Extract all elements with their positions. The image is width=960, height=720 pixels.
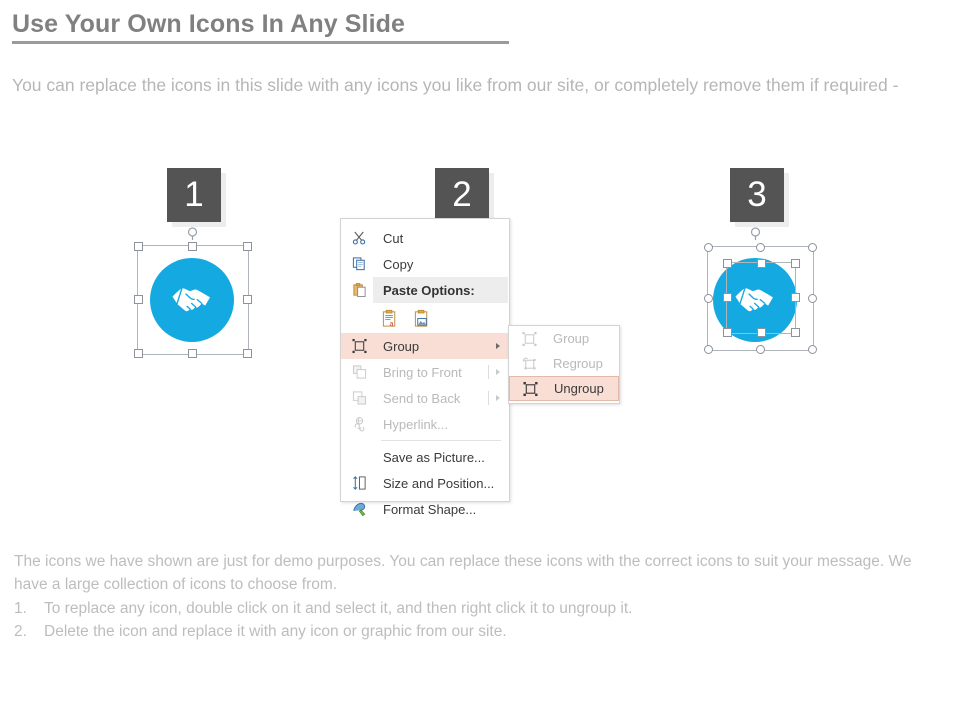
chevron-right-icon [496, 343, 500, 349]
outer-handle-se[interactable] [808, 345, 817, 354]
context-menu-item-send-to-back-label: Send to Back [383, 391, 460, 406]
context-menu-item-hyperlink[interactable]: Hyperlink... [341, 411, 509, 437]
footer-list-item-1-text: To replace any icon, double click on it … [44, 597, 632, 620]
slide-canvas: Use Your Own Icons In Any Slide You can … [0, 0, 960, 720]
chevron-right-icon [496, 395, 500, 401]
scissors-icon [351, 230, 368, 247]
inner-handle-e[interactable] [791, 293, 800, 302]
selection-handle-w[interactable] [134, 295, 143, 304]
paste-options-row[interactable]: a [341, 303, 509, 333]
hyperlink-icon [351, 416, 368, 433]
badge-1-label: 1 [167, 168, 221, 222]
badge-3-label: 3 [730, 168, 784, 222]
context-menu-divider [381, 440, 501, 441]
group-submenu[interactable]: Group Regroup [508, 325, 620, 404]
submenu-item-regroup-label: Regroup [553, 356, 603, 371]
context-menu-item-hyperlink-label: Hyperlink... [383, 417, 448, 432]
format-shape-icon [351, 501, 368, 518]
inner-handle-se[interactable] [791, 328, 800, 337]
outer-handle-sw[interactable] [704, 345, 713, 354]
paste-icon [351, 282, 368, 299]
context-menu-item-size-and-position[interactable]: Size and Position... [341, 470, 509, 496]
badge-2-label: 2 [435, 168, 489, 222]
selection-handle-nw[interactable] [134, 242, 143, 251]
outer-handle-nw[interactable] [704, 243, 713, 252]
context-menu-item-group[interactable]: Group [341, 333, 509, 359]
selection-handle-n[interactable] [188, 242, 197, 251]
context-menu-item-save-as-picture[interactable]: Save as Picture... [341, 444, 509, 470]
footer-text: The icons we have shown are just for dem… [14, 550, 946, 643]
context-menu-item-bring-to-front-label: Bring to Front [383, 365, 462, 380]
context-menu-item-cut-label: Cut [383, 231, 403, 246]
context-menu-item-cut[interactable]: Cut [341, 225, 509, 251]
svg-text:a: a [390, 320, 394, 328]
selection-box-3-inner [726, 262, 796, 334]
context-menu-paste-options-header: Paste Options: [341, 277, 509, 303]
selection-handle-ne[interactable] [243, 242, 252, 251]
inner-handle-nw[interactable] [723, 259, 732, 268]
selection-handle-sw[interactable] [134, 349, 143, 358]
footer-list-item-1-number: 1. [14, 597, 44, 620]
page-title-text: Use Your Own Icons In Any Slide [12, 10, 509, 39]
inner-handle-sw[interactable] [723, 328, 732, 337]
badge-3: 3 [730, 168, 784, 222]
inner-handle-n[interactable] [757, 259, 766, 268]
submenu-item-ungroup-label: Ungroup [554, 381, 604, 396]
handshake-icon-1[interactable] [150, 258, 234, 342]
copy-icon [351, 256, 368, 273]
context-menu-item-format-shape[interactable]: Format Shape... [341, 496, 509, 522]
badge-1: 1 [167, 168, 221, 222]
group-icon [521, 330, 538, 347]
paste-options-label: Paste Options: [383, 283, 475, 298]
submenu-item-ungroup[interactable]: Ungroup [509, 376, 619, 401]
chevron-right-icon [496, 369, 500, 375]
submenu-item-regroup[interactable]: Regroup [509, 351, 619, 376]
context-menu-item-group-label: Group [383, 339, 419, 354]
selection-handle-s[interactable] [188, 349, 197, 358]
send-back-icon [351, 390, 368, 407]
context-menu-item-save-as-picture-label: Save as Picture... [383, 450, 485, 465]
submenu-item-group-label: Group [553, 331, 589, 346]
badge-2: 2 [435, 168, 489, 222]
ungroup-icon [522, 380, 539, 397]
submenu-separator [488, 391, 489, 405]
inner-handle-ne[interactable] [791, 259, 800, 268]
title-underline [12, 41, 509, 44]
footer-list-item-2-number: 2. [14, 620, 44, 643]
context-menu[interactable]: Cut Copy Paste Opti [340, 218, 510, 502]
regroup-icon [521, 355, 538, 372]
rotation-handle-3[interactable] [749, 227, 762, 240]
context-menu-item-send-to-back[interactable]: Send to Back [341, 385, 509, 411]
footer-paragraph: The icons we have shown are just for dem… [14, 550, 946, 597]
group-icon [351, 338, 368, 355]
paste-keep-formatting-icon[interactable]: a [381, 309, 400, 328]
context-menu-item-size-and-position-label: Size and Position... [383, 476, 494, 491]
footer-list-item-1: 1. To replace any icon, double click on … [14, 597, 946, 620]
paste-picture-icon[interactable] [413, 309, 432, 328]
submenu-item-group[interactable]: Group [509, 326, 619, 351]
selection-handle-se[interactable] [243, 349, 252, 358]
submenu-separator [488, 365, 489, 379]
context-menu-item-bring-to-front[interactable]: Bring to Front [341, 359, 509, 385]
outer-handle-ne[interactable] [808, 243, 817, 252]
context-menu-item-copy[interactable]: Copy [341, 251, 509, 277]
outer-handle-e[interactable] [808, 294, 817, 303]
footer-list-item-2: 2. Delete the icon and replace it with a… [14, 620, 946, 643]
outer-handle-n[interactable] [756, 243, 765, 252]
inner-handle-s[interactable] [757, 328, 766, 337]
rotation-handle-1[interactable] [186, 227, 199, 240]
context-menu-item-format-shape-label: Format Shape... [383, 502, 476, 517]
selection-handle-e[interactable] [243, 295, 252, 304]
outer-handle-s[interactable] [756, 345, 765, 354]
page-subtitle: You can replace the icons in this slide … [12, 72, 957, 99]
inner-handle-w[interactable] [723, 293, 732, 302]
bring-front-icon [351, 364, 368, 381]
footer-list-item-2-text: Delete the icon and replace it with any … [44, 620, 507, 643]
page-title: Use Your Own Icons In Any Slide [12, 10, 509, 44]
context-menu-item-copy-label: Copy [383, 257, 413, 272]
size-position-icon [351, 475, 368, 492]
outer-handle-w[interactable] [704, 294, 713, 303]
